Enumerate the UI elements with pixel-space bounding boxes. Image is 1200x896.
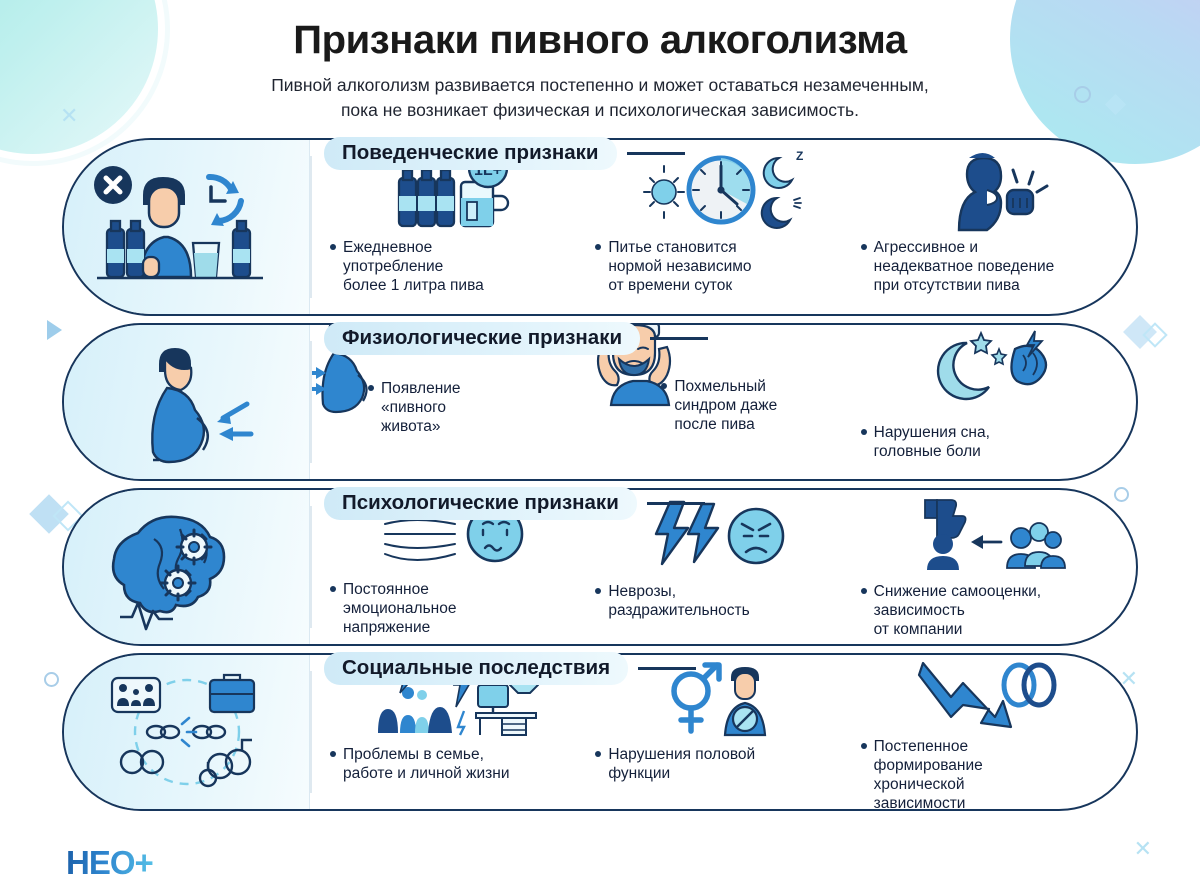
bullet-text: Снижение самооценки, зависимость от комп… <box>874 582 1041 639</box>
page-title: Признаки пивного алкоголизма <box>0 18 1200 63</box>
section-tab-label: Физиологические признаки <box>324 322 640 355</box>
bullet-dot <box>595 244 601 250</box>
bullet-item: Неврозы, раздражительность <box>595 582 848 620</box>
item-aggressive-behavior: Агрессивное и неадекватное поведение при… <box>855 146 1120 306</box>
bullet-item: Появление «пивного живота» <box>330 379 583 436</box>
bullet-item: Нарушения сна, головные боли <box>861 423 1114 461</box>
downward-arrow-and-rings-icon <box>917 661 1057 731</box>
illustration-man-with-beer-belly <box>64 325 310 479</box>
bullet-text: Агрессивное и неадекватное поведение при… <box>874 238 1055 295</box>
bullet-item: Постепенное формирование хронической зав… <box>861 737 1114 811</box>
thumbs-down-person-leaving-group-icon <box>913 496 1061 570</box>
bullet-dot <box>368 385 374 391</box>
column-divider <box>310 671 312 793</box>
bullet-dot <box>330 586 336 592</box>
bullet-text: Постоянное эмоциональное напряжение <box>343 580 456 637</box>
bullet-text: Проблемы в семье, работе и личной жизни <box>343 745 510 783</box>
bullet-text: Появление «пивного живота» <box>381 379 461 436</box>
column-divider <box>310 156 312 298</box>
section-tab-physiological: Физиологические признаки <box>324 322 708 355</box>
bullet-text: Ежедневное употребление более 1 литра пи… <box>343 238 484 295</box>
section-behavioral: Поведенческие признаки <box>62 138 1138 316</box>
bullet-dot <box>330 751 336 757</box>
bullet-text: Похмельный синдром даже после пива <box>674 377 777 434</box>
shouting-man-with-fist-icon <box>925 146 1049 232</box>
illustration-man-with-beer-bottles <box>64 140 310 314</box>
bullet-text: Неврозы, раздражительность <box>608 582 749 620</box>
brand-logo: НЕО+ <box>66 844 153 882</box>
bullet-dot <box>861 743 867 749</box>
bullet-item: Проблемы в семье, работе и личной жизни <box>330 745 583 783</box>
section-psychological: Психологические признаки <box>62 488 1138 646</box>
bullet-text: Постепенное формирование хронической зав… <box>874 737 983 811</box>
bullet-dot <box>330 244 336 250</box>
column-divider <box>310 506 312 628</box>
bullet-item: Питье становится нормой независимо от вр… <box>595 238 848 295</box>
bullet-dot <box>861 588 867 594</box>
section-physiological: Физиологические признаки <box>62 323 1138 481</box>
tab-rule <box>638 667 696 670</box>
section-tab-label: Психологические признаки <box>324 487 637 520</box>
bullet-text: Питье становится нормой независимо от вр… <box>608 238 751 295</box>
section-tab-social: Социальные последствия <box>324 652 696 685</box>
bullet-text: Нарушения сна, головные боли <box>874 423 990 461</box>
sections-list: Поведенческие признаки <box>0 138 1200 811</box>
bullet-item: Ежедневное употребление более 1 литра пи… <box>330 238 583 295</box>
section-tab-label: Поведенческие признаки <box>324 137 617 170</box>
item-sleep-disorders: Нарушения сна, головные боли <box>855 331 1120 471</box>
illustration-brain-with-gears <box>64 490 310 644</box>
bullet-item: Постоянное эмоциональное напряжение <box>330 580 583 637</box>
bullet-item: Похмельный синдром даже после пива <box>595 377 848 434</box>
bullet-text: Нарушения половой функции <box>608 745 755 783</box>
illustration-broken-chain-social <box>64 655 310 809</box>
tab-rule <box>650 337 708 340</box>
bullet-item: Снижение самооценки, зависимость от комп… <box>861 582 1114 639</box>
tab-rule <box>627 152 685 155</box>
item-low-self-esteem: Снижение самооценки, зависимость от комп… <box>855 496 1120 636</box>
bullet-dot <box>595 751 601 757</box>
page-header: Признаки пивного алкоголизма Пивной алко… <box>0 0 1200 124</box>
page-subtitle: Пивной алкоголизм развивается постепенно… <box>0 73 1200 124</box>
moon-stars-brain-lightning-icon <box>923 331 1051 405</box>
badge-sleep-z: Z <box>796 149 803 163</box>
item-daily-consumption: 1L+ Ежедневное употребление более 1 литр… <box>324 146 589 306</box>
bullet-dot <box>861 244 867 250</box>
bullet-dot <box>595 588 601 594</box>
bullet-dot <box>861 429 867 435</box>
bullet-dot <box>661 383 667 389</box>
bullet-item: Агрессивное и неадекватное поведение при… <box>861 238 1114 295</box>
item-chronic-dependence: Постепенное формирование хронической зав… <box>855 661 1120 801</box>
section-social: Социальные последствия <box>62 653 1138 811</box>
bullet-item: Нарушения половой функции <box>595 745 848 783</box>
sparkle-icon: ✕ <box>1134 838 1152 860</box>
item-drinking-any-time: Z Питье становится нормой независимо от … <box>589 146 854 306</box>
section-tab-behavioral: Поведенческие признаки <box>324 137 685 170</box>
section-tab-psychological: Психологические признаки <box>324 487 705 520</box>
tab-rule <box>647 502 705 505</box>
column-divider <box>310 341 312 463</box>
section-tab-label: Социальные последствия <box>324 652 628 685</box>
